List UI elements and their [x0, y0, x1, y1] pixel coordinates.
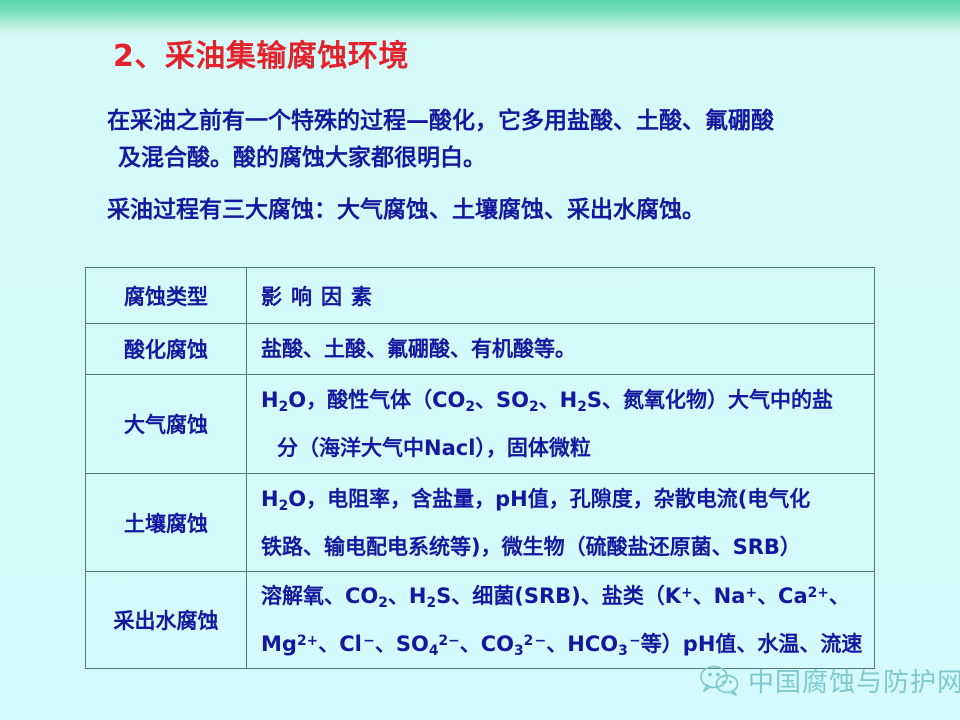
- page-title: 2、采油集输腐蚀环境: [113, 40, 409, 75]
- factor-line: Mg2+、Cl −、SO42−、CO32 −、HCO3 −等）pH值、水温、流速: [261, 620, 866, 668]
- corrosion-factors-table: 腐蚀类型 影响因素 酸化腐蚀 盐酸、土酸、氟硼酸、有机酸等。 大气腐蚀 H2O，…: [85, 267, 875, 669]
- row-factors-soil: H2O，电阻率，含盐量，pH值，孔隙度，杂散电流(电气化 铁路、输电配电系统等)…: [247, 474, 875, 572]
- row-type-produced-water: 采出水腐蚀: [86, 572, 247, 669]
- paragraph-2: 采油过程有三大腐蚀：大气腐蚀、土壤腐蚀、采出水腐蚀。: [107, 192, 705, 229]
- watermark: 中国腐蚀与防护网: [700, 662, 960, 699]
- row-factors-atmospheric: H2O，酸性气体（CO2、SO2、H2S、氮氧化物）大气中的盐 分（海洋大气中N…: [247, 375, 875, 474]
- factor-line: H2O，电阻率，含盐量，pH值，孔隙度，杂散电流(电气化: [261, 475, 866, 523]
- table-row: 大气腐蚀 H2O，酸性气体（CO2、SO2、H2S、氮氧化物）大气中的盐 分（海…: [86, 375, 875, 474]
- wechat-icon: [700, 664, 740, 698]
- row-factors-produced-water: 溶解氧、CO2、H2S、细菌(SRB)、盐类（K+、Na+、Ca2+、 Mg2+…: [247, 572, 875, 669]
- row-type-soil: 土壤腐蚀: [86, 474, 247, 572]
- paragraph-1-line-2: 及混合酸。酸的腐蚀大家都很明白。: [118, 140, 486, 177]
- row-type-atmospheric: 大气腐蚀: [86, 375, 247, 474]
- factor-line: 铁路、输电配电系统等)，微生物（硫酸盐还原菌、SRB）: [261, 523, 866, 571]
- paragraph-1-line-1: 在采油之前有一个特殊的过程—酸化，它多用盐酸、土酸、氟硼酸: [107, 103, 774, 140]
- factor-line: H2O，酸性气体（CO2、SO2、H2S、氮氧化物）大气中的盐: [261, 376, 866, 424]
- table-row: 土壤腐蚀 H2O，电阻率，含盐量，pH值，孔隙度，杂散电流(电气化 铁路、输电配…: [86, 474, 875, 572]
- row-type-acidizing: 酸化腐蚀: [86, 324, 247, 375]
- table-row: 酸化腐蚀 盐酸、土酸、氟硼酸、有机酸等。: [86, 324, 875, 375]
- table-row: 采出水腐蚀 溶解氧、CO2、H2S、细菌(SRB)、盐类（K+、Na+、Ca2+…: [86, 572, 875, 669]
- slide-canvas: 2、采油集输腐蚀环境 在采油之前有一个特殊的过程—酸化，它多用盐酸、土酸、氟硼酸…: [0, 0, 960, 720]
- table-header-row: 腐蚀类型 影响因素: [86, 268, 875, 324]
- factor-line: 盐酸、土酸、氟硼酸、有机酸等。: [261, 325, 866, 373]
- row-factors-acidizing: 盐酸、土酸、氟硼酸、有机酸等。: [247, 324, 875, 375]
- factor-line: 溶解氧、CO2、H2S、细菌(SRB)、盐类（K+、Na+、Ca2+、: [261, 572, 866, 620]
- table-header-type: 腐蚀类型: [86, 268, 247, 324]
- table-header-factors-label: 影响因素: [261, 285, 381, 309]
- watermark-text: 中国腐蚀与防护网: [748, 662, 960, 699]
- factor-line: 分（海洋大气中Nacl），固体微粒: [261, 424, 866, 472]
- table-header-factors: 影响因素: [247, 268, 875, 324]
